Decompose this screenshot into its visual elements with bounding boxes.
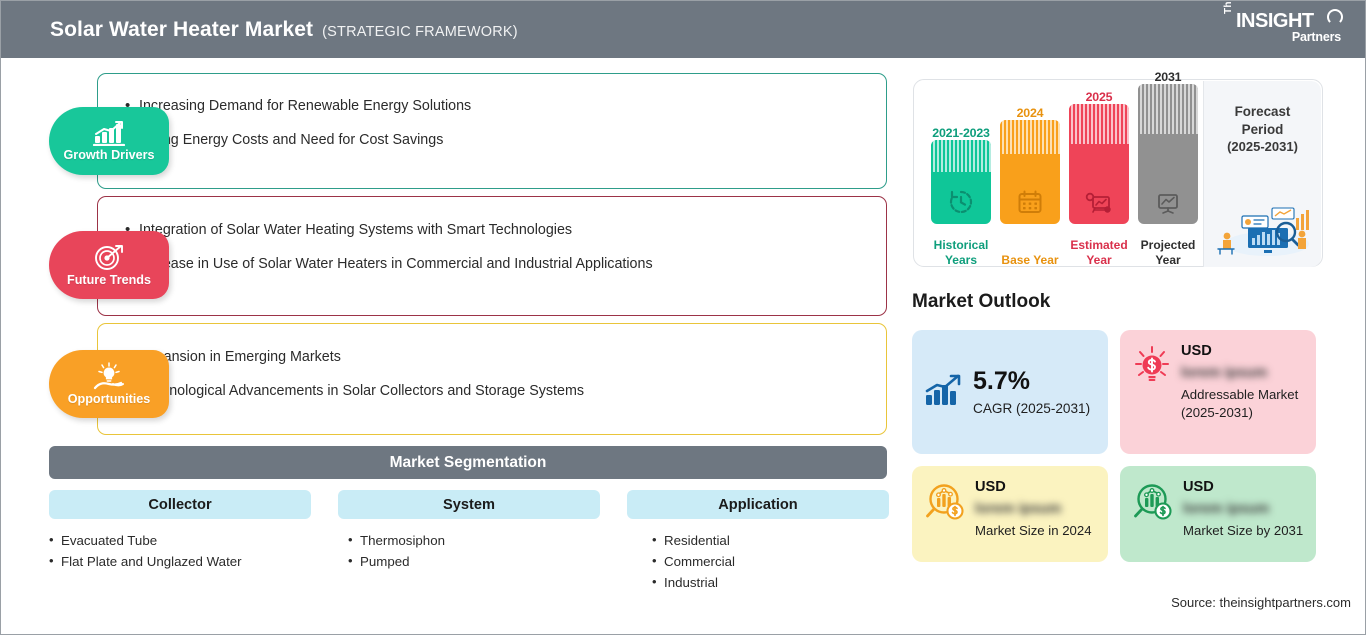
bar-stripe-top bbox=[1138, 84, 1198, 134]
segment-items: Evacuated Tube Flat Plate and Unglazed W… bbox=[49, 531, 311, 573]
list-item: Expansion in Emerging Markets bbox=[122, 347, 886, 368]
opportunities-box: Expansion in Emerging Markets Technologi… bbox=[97, 323, 887, 435]
forecast-title-line2: Period bbox=[1204, 121, 1321, 139]
bar-year-label: 2024 bbox=[1000, 106, 1060, 120]
market-segmentation-header: Market Segmentation bbox=[49, 446, 887, 479]
list-item: Flat Plate and Unglazed Water bbox=[49, 552, 311, 573]
market-outlook-title: Market Outlook bbox=[912, 291, 1050, 313]
currency-label: USD bbox=[1181, 343, 1304, 359]
card-caption: Market Size by 2031 bbox=[1183, 522, 1304, 540]
target-dartboard-icon bbox=[94, 244, 124, 271]
list-item: Integration of Solar Water Heating Syste… bbox=[122, 220, 886, 241]
segment-items: Thermosiphon Pumped bbox=[348, 531, 600, 573]
bar-solid-body bbox=[931, 172, 991, 224]
bar-caption: Projected Year bbox=[1132, 238, 1204, 268]
bar-year-label: 2031 bbox=[1138, 70, 1198, 84]
list-item: Increasing Demand for Renewable Energy S… bbox=[122, 96, 886, 117]
page-subtitle: (STRATEGIC FRAMEWORK) bbox=[322, 24, 518, 40]
badge-label: Growth Drivers bbox=[64, 148, 155, 162]
magnifier-chart-dollar-icon bbox=[924, 479, 966, 528]
left-column: Increasing Demand for Renewable Energy S… bbox=[1, 58, 901, 635]
segment-title: Collector bbox=[49, 490, 311, 519]
bar-solid-body bbox=[1069, 144, 1129, 224]
outlook-card-market-size-2024[interactable]: USD lorem ipsum Market Size in 2024 bbox=[912, 466, 1108, 562]
right-column: 2021-2023 bbox=[901, 58, 1366, 635]
currency-label: USD bbox=[1183, 479, 1304, 495]
outlook-card-market-size-2031[interactable]: USD lorem ipsum Market Size by 2031 bbox=[1120, 466, 1316, 562]
outlook-card-addressable-market[interactable]: USD lorem ipsum Addressable Market (2025… bbox=[1120, 330, 1316, 454]
timeline-bar-historical: 2021-2023 bbox=[931, 80, 991, 268]
card-caption: Market Size in 2024 bbox=[975, 522, 1096, 540]
blurred-value: lorem ipsum bbox=[975, 501, 1096, 517]
header-title-group: Solar Water Heater Market (STRATEGIC FRA… bbox=[50, 18, 518, 42]
list-item: Pumped bbox=[348, 552, 600, 573]
blurred-value: lorem ipsum bbox=[1183, 501, 1304, 517]
bar-year-label: 2025 bbox=[1069, 90, 1129, 104]
list-item: Technological Advancements in Solar Coll… bbox=[122, 381, 886, 402]
segment-column-system: System Thermosiphon Pumped bbox=[338, 490, 600, 594]
magnifier-chart-dollar-icon bbox=[1132, 479, 1174, 528]
list-item: Rising Energy Costs and Need for Cost Sa… bbox=[122, 130, 886, 151]
forecast-title-line1: Forecast bbox=[1204, 103, 1321, 121]
bar-caption: Estimated Year bbox=[1063, 238, 1135, 268]
bar-solid-body bbox=[1138, 134, 1198, 224]
currency-label: USD bbox=[975, 479, 1096, 495]
bar-caption: Base Year bbox=[994, 253, 1066, 268]
cagr-caption: CAGR (2025-2031) bbox=[973, 401, 1096, 416]
infographic-page: Solar Water Heater Market (STRATEGIC FRA… bbox=[0, 0, 1366, 635]
dashboard-analytics-illustration bbox=[1212, 204, 1314, 261]
badge-label: Opportunities bbox=[68, 392, 151, 406]
bar-chart-arrow-icon bbox=[924, 371, 964, 414]
opportunities-badge[interactable]: Opportunities bbox=[49, 350, 169, 418]
timeline-bar-estimated: 2025 bbox=[1069, 80, 1129, 268]
growth-drivers-badge[interactable]: Growth Drivers bbox=[49, 107, 169, 175]
future-trends-badge[interactable]: Future Trends bbox=[49, 231, 169, 299]
list-item: Increase in Use of Solar Water Heaters i… bbox=[122, 254, 886, 275]
page-title: Solar Water Heater Market bbox=[50, 18, 313, 42]
cagr-value: 5.7% bbox=[973, 369, 1096, 394]
card-caption: Addressable Market (2025-2031) bbox=[1181, 386, 1304, 422]
timeline-bar-base: 2024 bbox=[1000, 80, 1060, 268]
segmentation-columns: Collector Evacuated Tube Flat Plate and … bbox=[49, 490, 889, 594]
segment-column-collector: Collector Evacuated Tube Flat Plate and … bbox=[49, 490, 311, 594]
list-item: Industrial bbox=[652, 573, 889, 594]
segment-title: System bbox=[338, 490, 600, 519]
source-attribution: Source: theinsightpartners.com bbox=[1171, 595, 1351, 610]
future-trends-box: Integration of Solar Water Heating Syste… bbox=[97, 196, 887, 316]
addressable-market-body: USD lorem ipsum Addressable Market (2025… bbox=[1181, 343, 1304, 422]
lightbulb-dollar-icon bbox=[1132, 343, 1172, 392]
study-period-timeline-chart: 2021-2023 bbox=[913, 79, 1323, 267]
hand-lightbulb-icon bbox=[91, 362, 127, 390]
badge-label: Future Trends bbox=[67, 273, 151, 287]
list-item: Commercial bbox=[652, 552, 889, 573]
logo-partners-text: Partners bbox=[1292, 30, 1341, 44]
growth-drivers-box: Increasing Demand for Renewable Energy S… bbox=[97, 73, 887, 189]
bar-solid-body bbox=[1000, 154, 1060, 224]
bar-year-label: 2021-2023 bbox=[931, 126, 991, 140]
segment-column-application: Application Residential Commercial Indus… bbox=[627, 490, 889, 594]
list-item: Evacuated Tube bbox=[49, 531, 311, 552]
timeline-bars: 2021-2023 bbox=[931, 80, 1198, 268]
outlook-cards: 5.7% CAGR (2025-2031) bbox=[912, 330, 1324, 562]
growth-drivers-list: Increasing Demand for Renewable Energy S… bbox=[122, 96, 886, 150]
blurred-value: lorem ipsum bbox=[1181, 365, 1304, 381]
bar-stripe-top bbox=[931, 140, 991, 172]
forecast-period-range: (2025-2031) bbox=[1204, 139, 1321, 154]
logo-ring-icon bbox=[1327, 9, 1343, 25]
bar-chart-arrow-up-icon bbox=[92, 121, 126, 146]
timeline-bar-projected: 2031 bbox=[1138, 80, 1198, 268]
outlook-card-cagr[interactable]: 5.7% CAGR (2025-2031) bbox=[912, 330, 1108, 454]
insight-partners-logo[interactable]: The INSIGHT Partners bbox=[1223, 9, 1345, 51]
page-header: Solar Water Heater Market (STRATEGIC FRA… bbox=[1, 1, 1366, 58]
market-size-2031-body: USD lorem ipsum Market Size by 2031 bbox=[1183, 479, 1304, 540]
logo-the-text: The bbox=[1223, 0, 1234, 14]
bar-caption: Historical Years bbox=[925, 238, 997, 268]
market-size-2024-body: USD lorem ipsum Market Size in 2024 bbox=[975, 479, 1096, 540]
opportunities-list: Expansion in Emerging Markets Technologi… bbox=[122, 347, 886, 401]
list-item: Thermosiphon bbox=[348, 531, 600, 552]
list-item: Residential bbox=[652, 531, 889, 552]
cagr-body: 5.7% CAGR (2025-2031) bbox=[973, 369, 1096, 416]
segment-title: Application bbox=[627, 490, 889, 519]
future-trends-list: Integration of Solar Water Heating Syste… bbox=[122, 220, 886, 274]
bar-stripe-top bbox=[1069, 104, 1129, 144]
segment-items: Residential Commercial Industrial bbox=[652, 531, 889, 594]
forecast-period-panel: Forecast Period (2025-2031) bbox=[1203, 81, 1321, 267]
bar-stripe-top bbox=[1000, 120, 1060, 154]
